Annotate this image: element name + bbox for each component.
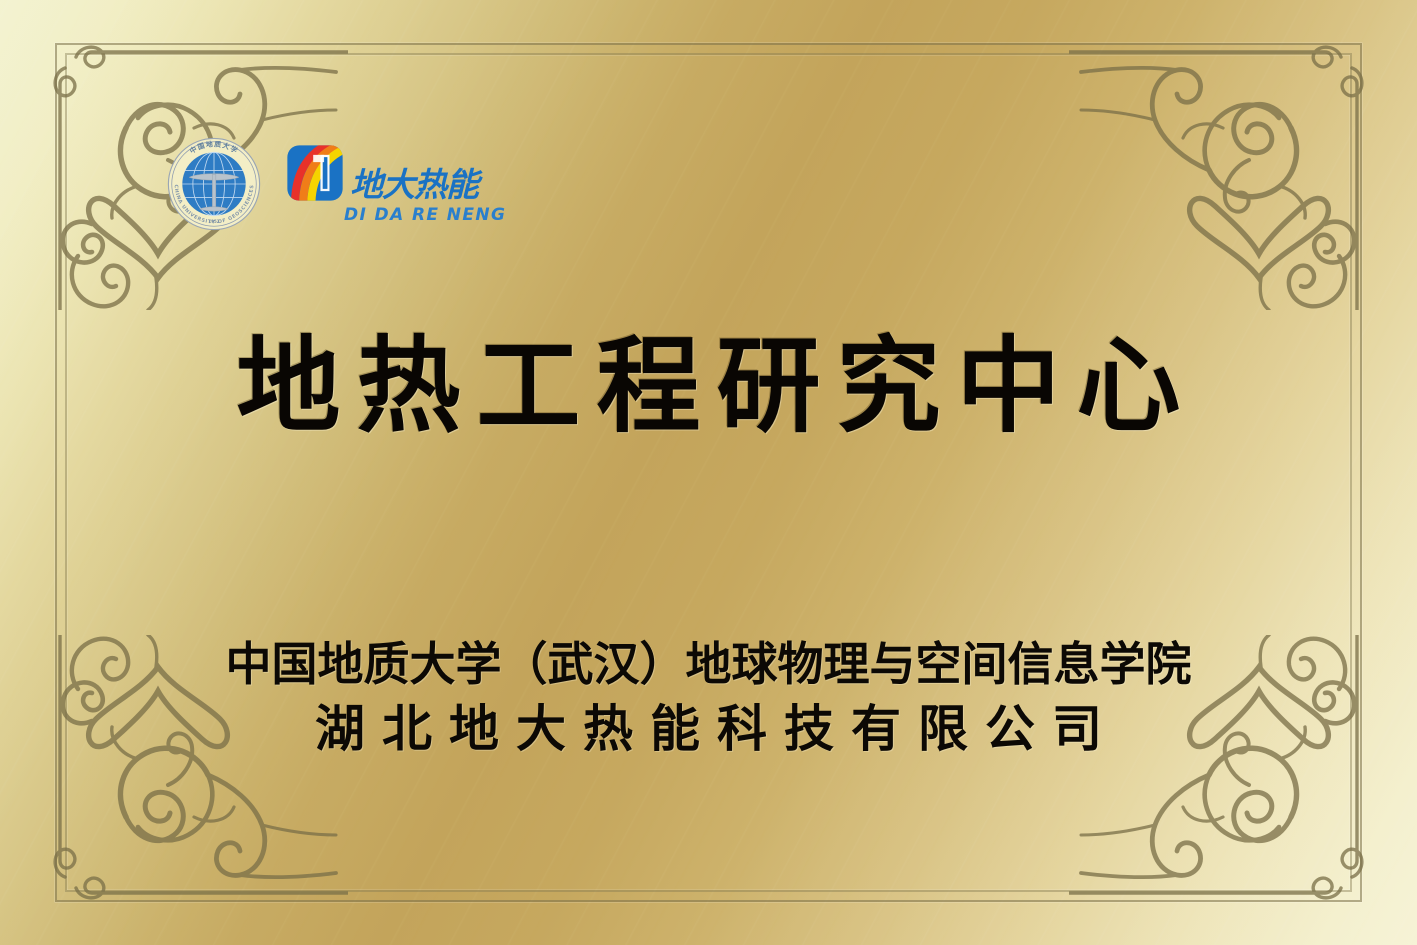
award-plaque: 中国地质大学 CHINA UNIVERSITY OF GEOSCIENCES 1… — [0, 0, 1417, 945]
subtitle-block: 中国地质大学（武汉）地球物理与空间信息学院 湖北地大热能科技有限公司 — [0, 636, 1417, 760]
company-wordmark-cn: 地大热能 — [350, 168, 478, 201]
rainbow-square-icon — [286, 144, 344, 202]
corner-flourish-top-right — [1069, 10, 1399, 310]
seal-year: 1952 — [208, 219, 219, 224]
subtitle-line-university: 中国地质大学（武汉）地球物理与空间信息学院 — [0, 636, 1417, 692]
subtitle-line-company: 湖北地大热能科技有限公司 — [0, 698, 1417, 760]
company-logo: 地大热能 DI DA RE NENG — [286, 144, 506, 225]
logo-row: 中国地质大学 CHINA UNIVERSITY OF GEOSCIENCES 1… — [166, 136, 506, 232]
page-title: 地热工程研究中心 — [0, 330, 1417, 442]
company-wordmark-en: DI DA RE NENG — [344, 205, 506, 225]
university-seal-logo: 中国地质大学 CHINA UNIVERSITY OF GEOSCIENCES 1… — [166, 136, 262, 232]
